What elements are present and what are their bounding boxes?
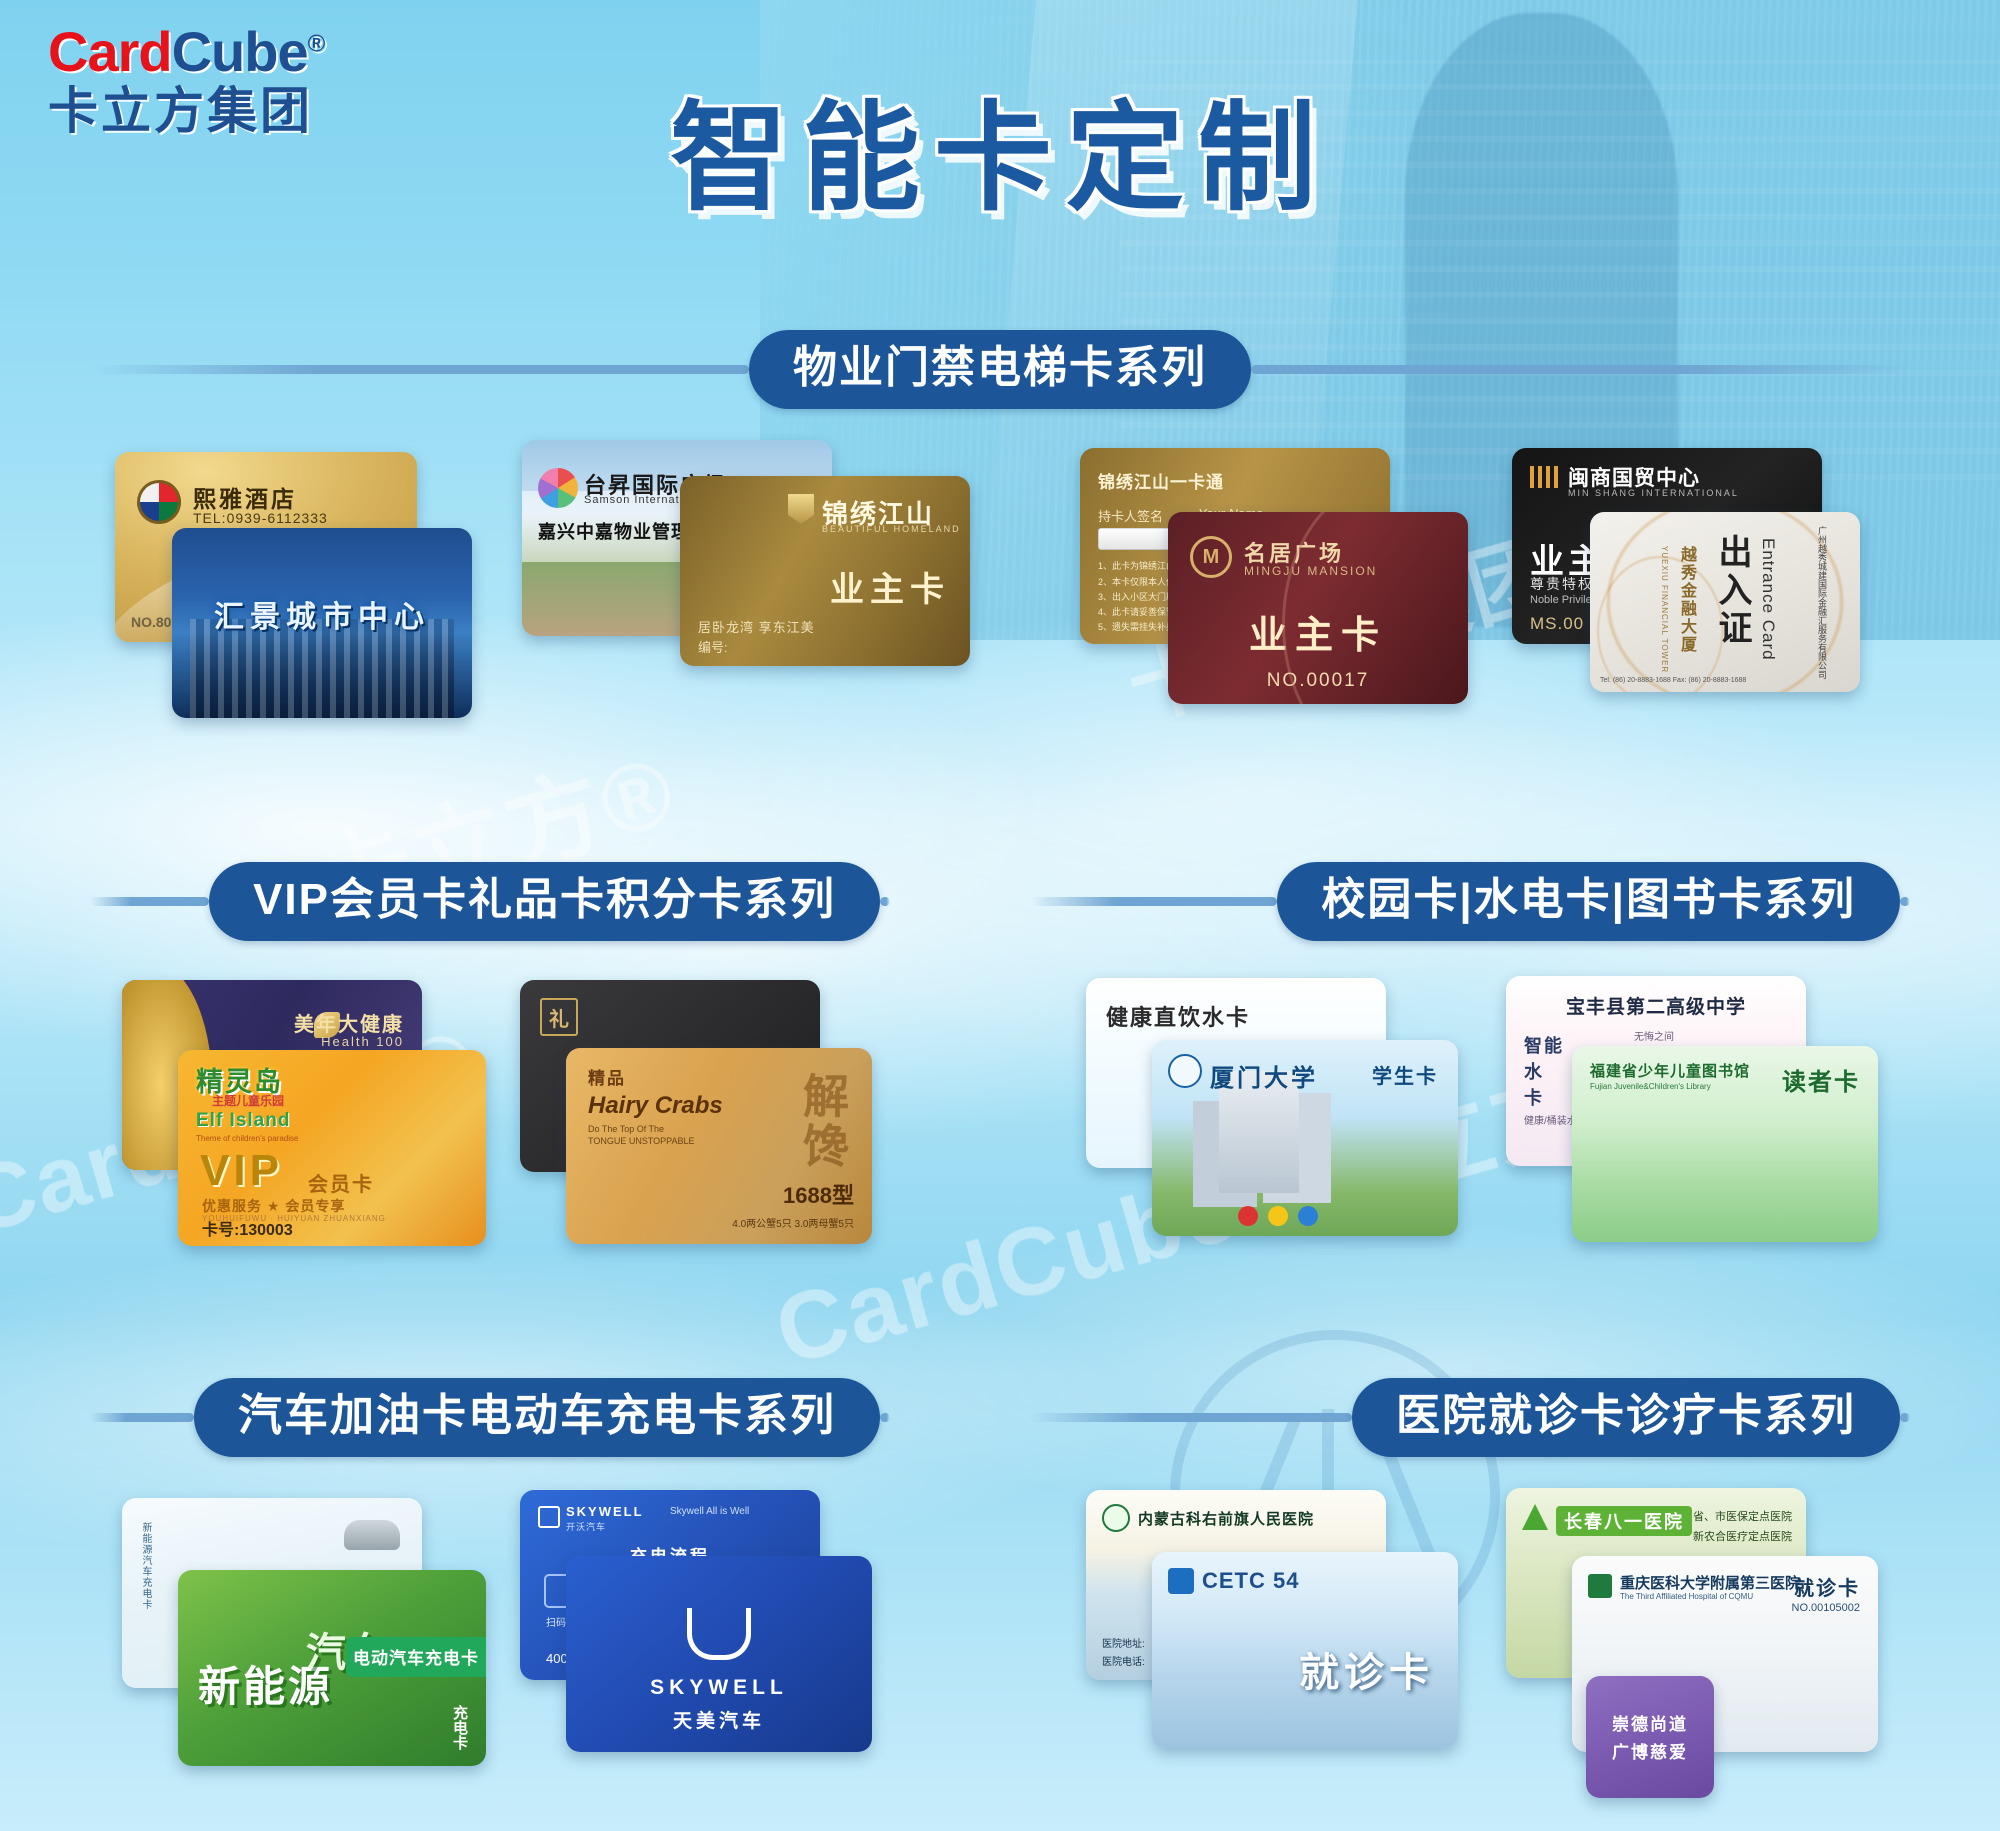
card-cqmu-motto: 崇德尚道 广博慈爱 [1586,1676,1714,1798]
hospital-logo-icon [1522,1504,1548,1530]
card-privilege-cn: 尊贵特权 [1530,574,1594,594]
section-divider-right [1251,365,1910,374]
card-hairy-crabs: 精品 Hairy Crabs Do The Top Of The TONGUE … [566,1048,872,1244]
card-type: 就诊卡 [1299,1640,1434,1698]
card-type: 业主卡 [830,562,950,611]
skywell-logo-icon [538,1506,560,1528]
card-title-en: Hairy Crabs [588,1092,723,1120]
card-number: NO.00105002 [1792,1602,1861,1614]
card-subtitle-en: Health 100 [321,1034,404,1049]
card-side-note: 新能源汽车充电卡 [138,1522,153,1610]
card-title: 汇景城市中心 [172,592,472,636]
card-brand-cn: 开沃汽车 [566,1520,606,1533]
card-address-label: 医院地址: [1102,1635,1145,1650]
section-divider-right [880,1413,890,1422]
section-header-property: 物业门禁电梯卡系列 [90,330,1910,409]
signature-label: 持卡人签名 [1098,506,1163,525]
card-spec: 4.0两公蟹5只 3.0两母蟹5只 [732,1215,854,1230]
card-cetc54-visit: CETC 54 就诊卡 [1152,1552,1458,1748]
card-huijing-city-center: 汇景城市中心 [172,528,472,718]
gift-logo-icon: 礼 [540,998,578,1036]
card-number: NO.00017 [1168,670,1468,692]
card-type-2: 水 [1524,1058,1542,1084]
card-motto-2: 广博慈爱 [1586,1738,1714,1763]
hotel-logo-icon [137,480,181,524]
section-divider-left [90,897,209,906]
section-title-vip: VIP会员卡礼品卡积分卡系列 [209,862,880,941]
card-type-1: 智能 [1524,1032,1564,1058]
card-grade: 精品 [588,1064,626,1089]
card-note-3: 健康/桶装水 [1524,1112,1577,1127]
card-phone: TEL:0939-6112333 [193,510,328,526]
card-brand-cn: 解馋 [790,1072,856,1172]
section-header-fuel: 汽车加油卡电动车充电卡系列 [90,1378,890,1457]
card-footer-icons [1238,1206,1318,1226]
card-subtitle-cn: 主题儿童乐园 [212,1092,284,1109]
card-phone-label: 医院电话: [1102,1653,1145,1668]
cetc-logo-icon [1168,1568,1194,1594]
card-title-en: Elf Island [196,1110,290,1132]
card-note-1: 省、市医保定点医院 [1693,1508,1792,1524]
section-divider-left [1030,897,1277,906]
card-brand: SKYWELL [566,1504,644,1519]
card-building-cn: 越秀金融大厦 [1674,546,1698,654]
card-member-label: 会员卡 [308,1168,374,1197]
card-vip-label: VIP [200,1146,283,1196]
card-tagline-en: Theme of children's paradise [196,1134,298,1143]
card-type: 出入证 [1708,534,1757,648]
crest-icon [788,494,814,524]
section-title-property: 物业门禁电梯卡系列 [749,330,1251,409]
card-library-en: Fujian Juvenile&Children's Library [1590,1082,1711,1091]
card-number: MS.00 [1530,614,1584,634]
card-serial-label: 编号: [698,637,728,656]
registered-trademark-icon: ® [308,30,325,57]
card-company: 广州越秀城建国际金融汇服务有限公司 [1816,526,1829,679]
card-note-2: 新农合医疗定点医院 [1693,1528,1792,1544]
gift-logo-text: 礼 [549,1003,569,1032]
card-type: 就诊卡 [1794,1572,1860,1601]
section-divider-right [880,897,890,906]
section-header-campus: 校园卡|水电卡|图书卡系列 [1030,862,1910,941]
card-fujian-childrens-library-reader: 福建省少年儿童图书馆 Fujian Juvenile&Children's Li… [1572,1046,1878,1242]
card-subtitle-en: MINGJU MANSION [1244,564,1377,578]
page-title: 智能卡定制 [0,62,2000,233]
card-title: 锦绣江山一卡通 [1098,468,1224,493]
university-seal-icon [1168,1054,1202,1088]
card-title: 健康直饮水卡 [1106,1000,1250,1032]
card-title: 熙雅酒店 [193,480,297,514]
skywell-monogram-icon [687,1608,751,1660]
card-org: CETC 54 [1202,1568,1299,1594]
section-header-vip: VIP会员卡礼品卡积分卡系列 [90,862,890,941]
section-divider-right [1900,1413,1910,1422]
card-brand-cn: 天美汽车 [566,1706,872,1733]
section-divider-left [1030,1413,1352,1422]
card-title: 美年大健康 [294,1008,404,1037]
card-type: 业主卡 [1168,604,1468,659]
card-hospital-en: The Third Affiliated Hospital of CQMU [1620,1592,1753,1601]
card-badge: 电动汽车充电卡 [346,1637,486,1677]
card-library-cn: 福建省少年儿童图书馆 [1590,1060,1750,1081]
card-subtitle-en: BEAUTIFUL HOMELAND [822,524,961,534]
card-slogan: 居卧龙湾 享东江美 [698,617,815,636]
card-type-en: Entrance Card [1758,538,1778,661]
card-model: 1688型 [783,1178,854,1210]
card-motto-1: 崇德尚道 [1586,1710,1714,1735]
card-type: 学生卡 [1372,1060,1438,1089]
section-divider-left [90,1413,194,1422]
card-badge-label: 电动汽车充电卡 [353,1644,479,1669]
minshang-logo-icon [1530,466,1560,488]
card-slogan-cn: 优惠服务 ★ 会员专享 [202,1196,345,1216]
hospital-seal-icon [1102,1504,1130,1532]
section-header-hospital: 医院就诊卡诊疗卡系列 [1030,1378,1910,1457]
card-step-1: 扫码 [546,1614,566,1629]
card-school: 厦门大学 [1210,1058,1318,1093]
card-number: NO.80 [131,614,171,630]
card-new-energy-vehicle-charge: 新能源 汽车 电动汽车充电卡 充电卡 [178,1570,486,1766]
card-mingju-mansion: M 名居广场 MINGJU MANSION 业主卡 NO.00017 [1168,512,1468,704]
card-terms-4: 4、此卡请妥善保管 [1098,605,1175,618]
card-building-en: YUEXIU FINANCIAL TOWER [1660,546,1669,673]
car-silhouette-icon [344,1520,400,1550]
card-school: 宝丰县第二高级中学 [1506,992,1806,1019]
section-title-fuel: 汽车加油卡电动车充电卡系列 [194,1378,880,1457]
plaza-logo-icon [538,468,578,508]
card-tagline-en-2: TONGUE UNSTOPPABLE [588,1136,695,1146]
card-xiamen-university-student: 厦门大学 学生卡 [1152,1040,1458,1236]
card-jinxiu-jiangshan-owner: 锦绣江山 BEAUTIFUL HOMELAND 业主卡 居卧龙湾 享东江美 编号… [680,476,970,666]
card-elf-island-vip: 精灵岛 主题儿童乐园 Elf Island Theme of children'… [178,1050,486,1246]
cqmu-logo-icon [1588,1574,1612,1598]
card-type: 读者卡 [1782,1062,1860,1097]
section-title-campus: 校园卡|水电卡|图书卡系列 [1277,862,1900,941]
card-hospital-name: 长春八一医院 [1556,1506,1692,1536]
card-hospital-cn: 重庆医科大学附属第三医院 [1620,1572,1800,1593]
card-subtitle-en: MIN SHANG INTERNATIONAL [1568,488,1739,498]
section-divider-right [1900,897,1910,906]
card-terms-5: 5、遗失需挂失补办 [1098,620,1175,633]
card-number: 卡号:130003 [202,1216,293,1240]
mansion-logo-icon: M [1190,536,1232,578]
card-brand-en: SKYWELL [566,1676,872,1700]
card-contact: Tel: (86) 20-8883-1688 Fax: (86) 20-8883… [1600,677,1746,684]
section-divider-left [90,365,749,374]
card-note-1: 无悔之间 [1634,1028,1674,1043]
card-skywell-brand: SKYWELL 天美汽车 [566,1556,872,1752]
card-hospital-name: 内蒙古科右前旗人民医院 [1138,1508,1314,1529]
card-slogan: Skywell All is Well [670,1506,749,1517]
card-type-3: 卡 [1524,1084,1542,1110]
card-side-label: 充电卡 [449,1705,470,1750]
card-yuexiu-entrance: 出入证 Entrance Card 越秀金融大厦 YUEXIU FINANCIA… [1590,512,1860,692]
section-title-hospital: 医院就诊卡诊疗卡系列 [1352,1378,1900,1457]
